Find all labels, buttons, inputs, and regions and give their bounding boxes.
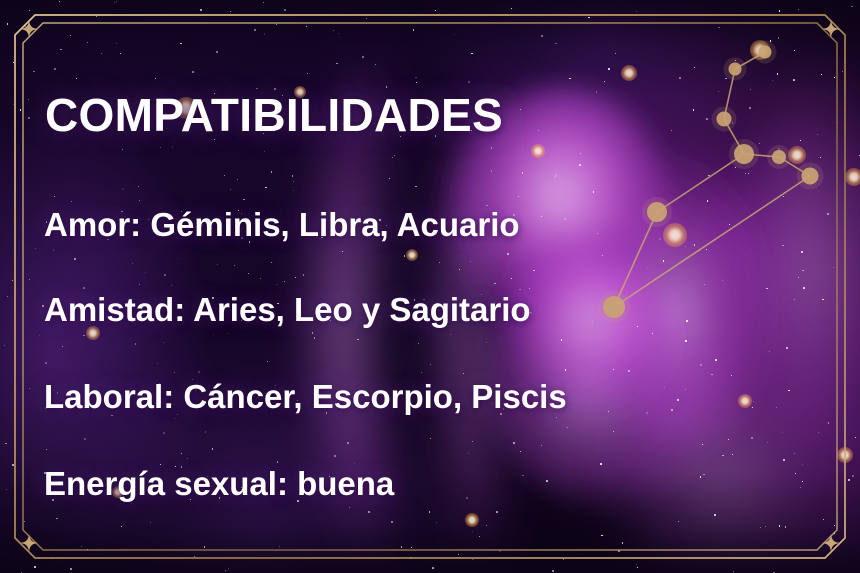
page-title: COMPATIBILIDADES bbox=[45, 92, 503, 138]
compatibility-line-amor: Amor: Géminis, Libra, Acuario bbox=[44, 208, 520, 241]
compatibility-line-amistad: Amistad: Aries, Leo y Sagitario bbox=[44, 293, 531, 326]
compatibility-line-energia-sexual: Energía sexual: buena bbox=[44, 467, 394, 500]
card-text-content: COMPATIBILIDADES Amor: Géminis, Libra, A… bbox=[0, 0, 860, 573]
horoscope-compatibility-card: COMPATIBILIDADES Amor: Géminis, Libra, A… bbox=[0, 0, 860, 573]
compatibility-line-laboral: Laboral: Cáncer, Escorpio, Piscis bbox=[44, 380, 567, 413]
